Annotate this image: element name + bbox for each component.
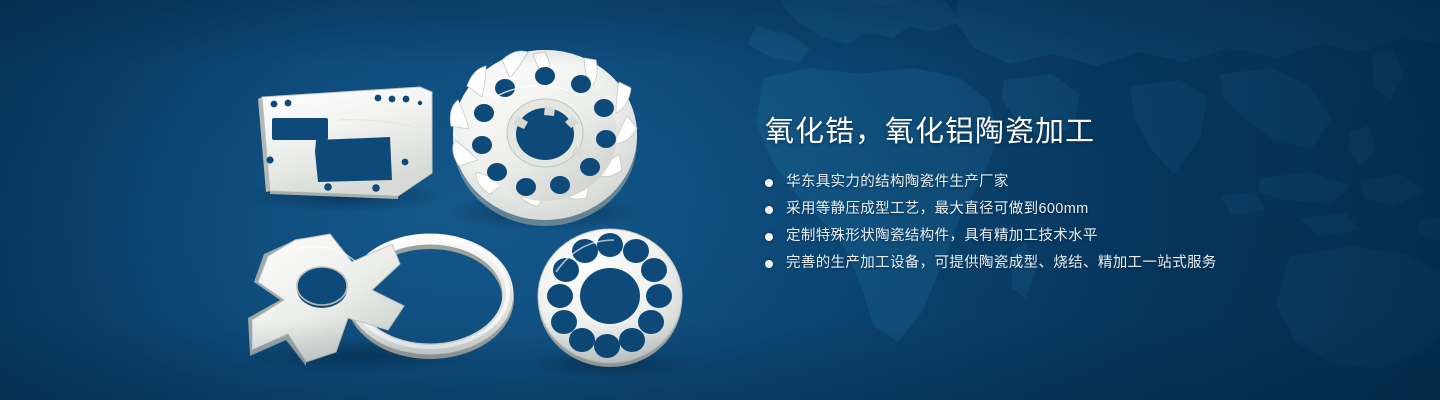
list-item: 采用等静压成型工艺，最大直径可做到600mm [765,199,1385,220]
hero-banner: 氧化锆，氧化铝陶瓷加工 华东具实力的结构陶瓷件生产厂家 采用等静压成型工艺，最大… [0,0,1440,400]
list-item-label: 采用等静压成型工艺，最大直径可做到600mm [786,199,1089,220]
list-item: 完善的生产加工设备，可提供陶瓷成型、烧结、精加工一站式服务 [765,253,1385,274]
page-title: 氧化锆，氧化铝陶瓷加工 [765,112,1385,152]
feature-list: 华东具实力的结构陶瓷件生产厂家 采用等静压成型工艺，最大直径可做到600mm 定… [765,172,1385,274]
banner-copy: 氧化锆，氧化铝陶瓷加工 华东具实力的结构陶瓷件生产厂家 采用等静压成型工艺，最大… [765,112,1385,274]
list-item: 定制特殊形状陶瓷结构件，具有精加工技术水平 [765,226,1385,247]
list-item: 华东具实力的结构陶瓷件生产厂家 [765,172,1385,193]
list-item-label: 定制特殊形状陶瓷结构件，具有精加工技术水平 [786,226,1098,247]
bullet-dot-icon [765,179,773,187]
bullet-dot-icon [765,206,773,214]
list-item-label: 完善的生产加工设备，可提供陶瓷成型、烧结、精加工一站式服务 [786,253,1217,274]
list-item-label: 华东具实力的结构陶瓷件生产厂家 [786,172,1009,193]
bullet-dot-icon [765,233,773,241]
bullet-dot-icon [765,260,773,268]
